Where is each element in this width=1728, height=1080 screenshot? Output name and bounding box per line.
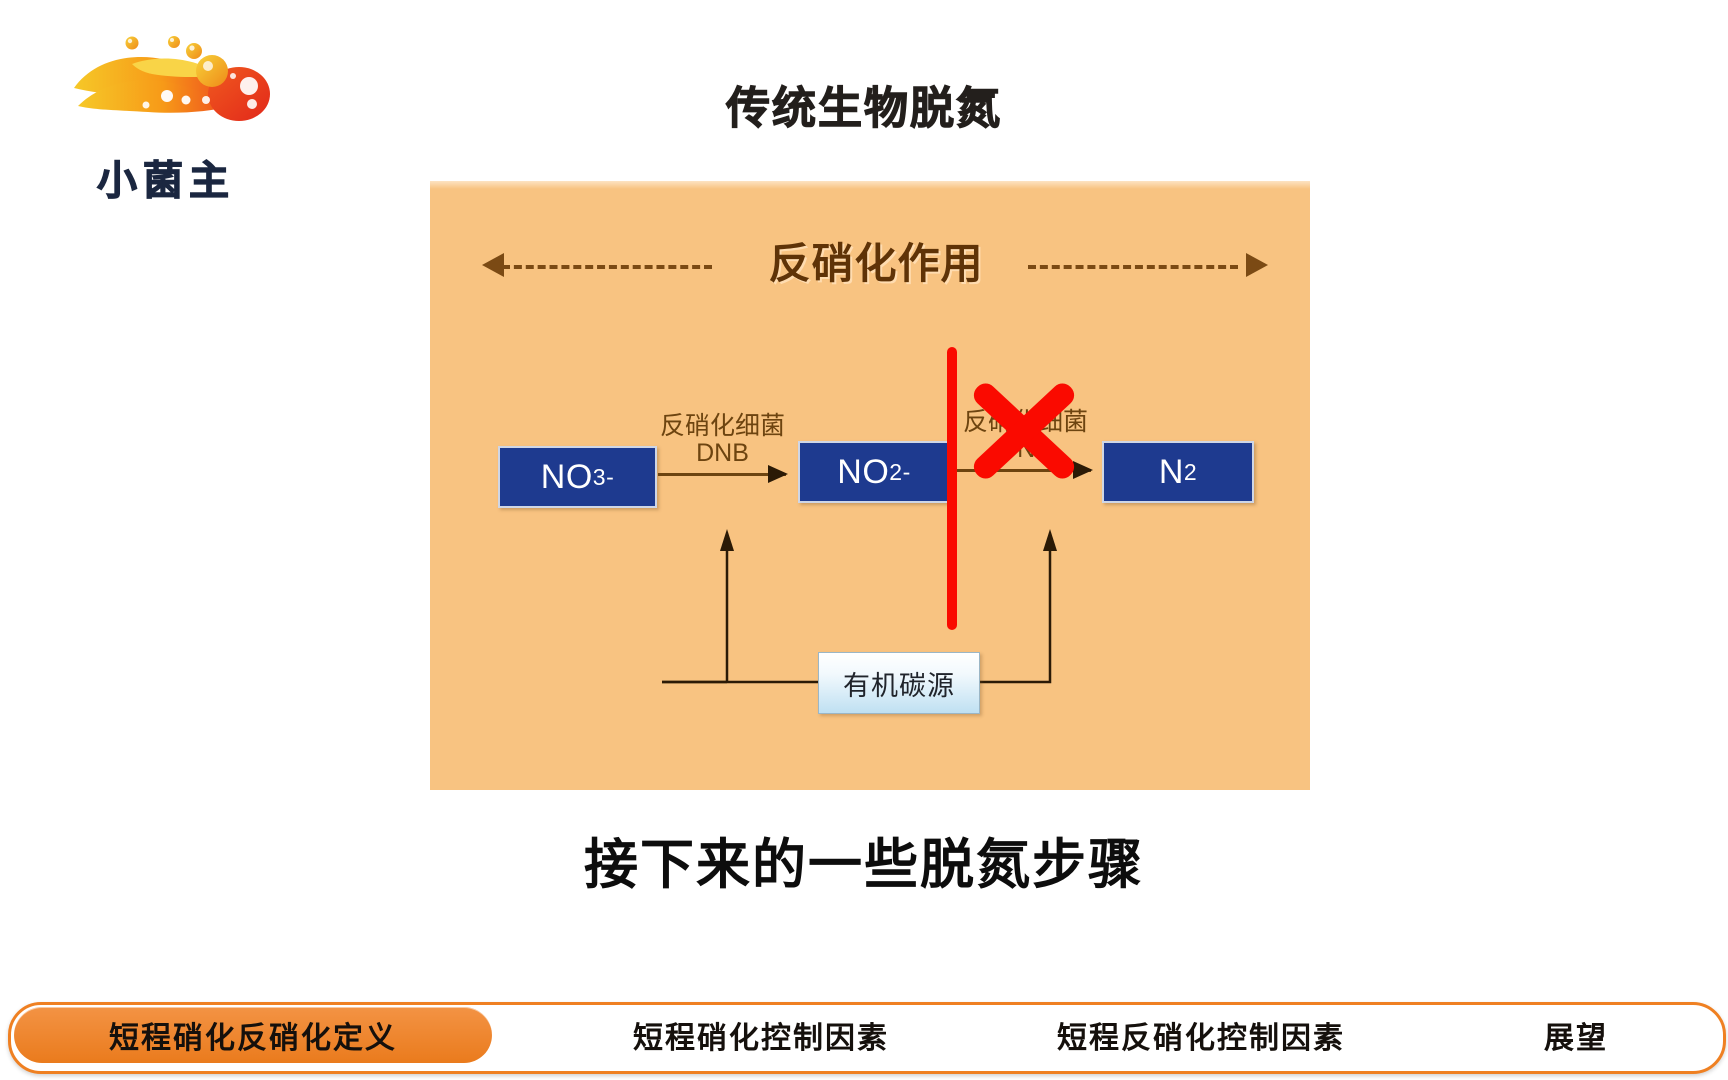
reaction-1-arrow	[658, 473, 786, 476]
arrow-left-head	[482, 253, 504, 277]
blocking-bar	[947, 347, 957, 630]
nav-item-definition[interactable]: 短程硝化反硝化定义	[14, 1007, 492, 1063]
nav-item-nitrification-factors[interactable]: 短程硝化控制因素	[571, 1007, 951, 1063]
reaction-1-label-cn: 反硝化细菌	[635, 413, 810, 440]
node-nitrite-formula: NO	[837, 453, 889, 492]
subtitle-caption: 接下来的一些脱氮步骤	[0, 820, 1728, 899]
diagram-panel: 反硝化作用 NO3- NO2- N2 反硝化细菌 DNB 反硝化细菌 DNB 有…	[430, 181, 1310, 790]
blocked-cross-icon	[959, 371, 1089, 491]
node-nitrate-sup: -	[606, 464, 614, 491]
arrow-right-head	[1246, 253, 1268, 277]
page-title: 传统生物脱氮	[0, 72, 1728, 136]
node-nitrite-sub: 2	[889, 459, 902, 486]
reaction-1-label: 反硝化细菌 DNB	[635, 413, 810, 466]
node-nitrate: NO3-	[498, 446, 657, 508]
node-nitrite: NO2-	[798, 441, 950, 503]
dashed-line-left	[502, 265, 712, 269]
nav-item-outlook[interactable]: 展望	[1451, 1007, 1701, 1063]
denitrification-span-arrow: 反硝化作用	[480, 238, 1270, 294]
panel-top-gloss	[430, 181, 1310, 189]
node-nitrate-formula: NO	[541, 458, 593, 497]
denitrification-label: 反硝化作用	[726, 230, 1026, 291]
node-dinitrogen: N2	[1102, 441, 1254, 503]
nav-item-denitrification-factors[interactable]: 短程反硝化控制因素	[996, 1007, 1406, 1063]
node-nitrite-sup: -	[903, 459, 911, 486]
reaction-1-arrow-head	[768, 465, 788, 483]
node-nitrate-sub: 3	[593, 464, 606, 491]
node-dinitrogen-formula: N	[1159, 453, 1184, 492]
reaction-1-label-en: DNB	[635, 440, 810, 467]
carbon-source-box: 有机碳源	[818, 652, 980, 714]
dashed-line-right	[1028, 265, 1238, 269]
node-dinitrogen-sub: 2	[1184, 459, 1197, 486]
brand-name: 小菌主	[76, 148, 256, 206]
bottom-nav-bar: 短程硝化反硝化定义 短程硝化控制因素 短程反硝化控制因素 展望	[8, 1002, 1726, 1074]
